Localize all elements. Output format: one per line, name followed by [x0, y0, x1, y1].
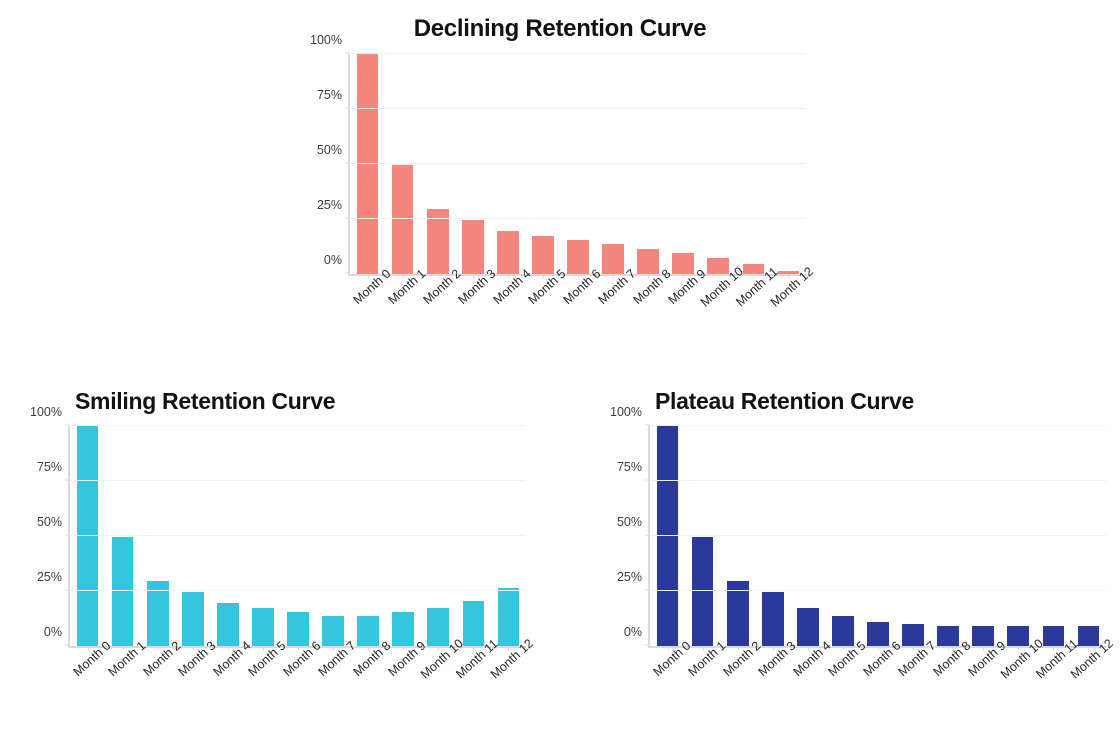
y-axis-tick-mark [345, 218, 350, 219]
bar[interactable] [1043, 626, 1065, 646]
bar[interactable] [182, 592, 204, 646]
bar-slot: Month 6 [280, 426, 315, 646]
x-axis-tick-mark [808, 646, 809, 650]
x-axis-tick-mark [403, 274, 404, 278]
bar-slot: Month 9 [966, 426, 1001, 646]
bar-slot: Month 12 [771, 54, 806, 274]
y-axis-tick-label: 75% [617, 460, 642, 474]
bar-slot: Month 5 [825, 426, 860, 646]
plot-wrap-smiling: Month 0Month 1Month 2Month 3Month 4Month… [20, 426, 540, 648]
bar-slot: Month 2 [140, 426, 175, 646]
y-axis-tick-mark [645, 425, 650, 426]
bar-slot: Month 4 [490, 54, 525, 274]
x-axis-tick-mark [473, 646, 474, 650]
chart-panel-smiling: Smiling Retention Curve Month 0Month 1Mo… [20, 386, 540, 716]
bar-slot: Month 4 [790, 426, 825, 646]
x-axis-tick-mark [578, 274, 579, 278]
bar[interactable] [937, 626, 959, 646]
bar[interactable] [392, 612, 414, 646]
bar-slot: Month 1 [385, 54, 420, 274]
y-axis-tick-label: 0% [44, 625, 62, 639]
x-axis-tick-mark [788, 274, 789, 278]
y-axis-tick-mark [65, 645, 70, 646]
x-axis-tick-mark [473, 274, 474, 278]
x-axis-tick-mark [1088, 646, 1089, 650]
plot-wrap-plateau: Month 0Month 1Month 2Month 3Month 4Month… [600, 426, 1120, 648]
y-axis-tick-label: 25% [317, 198, 342, 212]
plot-area-smiling: Month 0Month 1Month 2Month 3Month 4Month… [68, 426, 526, 648]
bar[interactable] [357, 616, 379, 646]
x-axis-tick-mark [403, 646, 404, 650]
bar-slot: Month 0 [650, 426, 685, 646]
bar[interactable] [217, 603, 239, 646]
x-axis-tick-mark [913, 646, 914, 650]
x-axis-tick-mark [88, 646, 89, 650]
x-axis-tick-mark [1053, 646, 1054, 650]
bar-slot: Month 9 [666, 54, 701, 274]
gridline [70, 425, 526, 426]
gridline [70, 535, 526, 536]
x-axis-tick-mark [508, 646, 509, 650]
bar[interactable] [602, 244, 624, 274]
bar-slot: Month 10 [1001, 426, 1036, 646]
y-axis-tick-label: 25% [37, 570, 62, 584]
plot-area-plateau: Month 0Month 1Month 2Month 3Month 4Month… [648, 426, 1106, 648]
x-axis-tick-mark [753, 274, 754, 278]
y-axis-tick-mark [345, 163, 350, 164]
bar[interactable] [672, 253, 694, 274]
x-axis-tick-mark [438, 646, 439, 650]
bar-slot: Month 2 [420, 54, 455, 274]
x-axis-tick-mark [773, 646, 774, 650]
x-axis-tick-mark [878, 646, 879, 650]
bar-slot: Month 1 [685, 426, 720, 646]
x-axis-tick-mark [613, 274, 614, 278]
bar-series-declining: Month 0Month 1Month 2Month 3Month 4Month… [350, 54, 806, 274]
bar-slot: Month 6 [860, 426, 895, 646]
x-axis-tick-mark [718, 274, 719, 278]
bar-slot: Month 4 [210, 426, 245, 646]
bar[interactable] [462, 220, 484, 274]
y-axis-tick-label: 75% [37, 460, 62, 474]
bar[interactable] [972, 626, 994, 646]
y-axis-tick-label: 100% [310, 33, 342, 47]
gridline [650, 480, 1106, 481]
bar-slot: Month 7 [896, 426, 931, 646]
chart-title-plateau: Plateau Retention Curve [600, 386, 1120, 416]
bar-slot: Month 10 [701, 54, 736, 274]
bar[interactable] [567, 240, 589, 274]
y-axis-tick-mark [65, 480, 70, 481]
bar-slot: Month 6 [560, 54, 595, 274]
bar[interactable] [77, 426, 99, 646]
chart-title-declining: Declining Retention Curve [300, 14, 820, 44]
x-axis-tick-mark [543, 274, 544, 278]
bar[interactable] [1007, 626, 1029, 646]
bar-slot: Month 7 [316, 426, 351, 646]
chart-panel-declining: Declining Retention Curve Month 0Month 1… [300, 14, 820, 364]
bar-slot: Month 3 [455, 54, 490, 274]
bar[interactable] [252, 608, 274, 647]
x-axis-tick-mark [668, 646, 669, 650]
x-axis-tick-mark [738, 646, 739, 650]
x-axis-tick-mark [368, 274, 369, 278]
gridline [350, 218, 806, 219]
y-axis-tick-mark [345, 273, 350, 274]
plot-area-declining: Month 0Month 1Month 2Month 3Month 4Month… [348, 54, 806, 276]
y-axis-tick-mark [65, 590, 70, 591]
bar[interactable] [832, 616, 854, 646]
x-axis-tick-mark [508, 274, 509, 278]
y-axis-tick-mark [645, 590, 650, 591]
bar[interactable] [1078, 626, 1100, 646]
x-axis-tick-mark [648, 274, 649, 278]
y-axis-tick-label: 50% [617, 515, 642, 529]
x-axis-tick-mark [298, 646, 299, 650]
y-axis-tick-label: 100% [30, 405, 62, 419]
gridline [350, 53, 806, 54]
y-axis-tick-mark [645, 645, 650, 646]
bar-slot: Month 5 [245, 426, 280, 646]
gridline [70, 480, 526, 481]
x-axis-tick-mark [948, 646, 949, 650]
y-axis-tick-label: 0% [324, 253, 342, 267]
x-axis-tick-mark [123, 646, 124, 650]
y-axis-tick-mark [345, 53, 350, 54]
bar-slot: Month 11 [736, 54, 771, 274]
bar-slot: Month 5 [525, 54, 560, 274]
bar-slot: Month 11 [456, 426, 491, 646]
x-axis-tick-mark [263, 646, 264, 650]
y-axis-tick-label: 25% [617, 570, 642, 584]
gridline [350, 163, 806, 164]
bar[interactable] [867, 622, 889, 646]
bar-series-smiling: Month 0Month 1Month 2Month 3Month 4Month… [70, 426, 526, 646]
bar-slot: Month 8 [631, 54, 666, 274]
bar[interactable] [707, 258, 729, 275]
bar-slot: Month 7 [596, 54, 631, 274]
x-axis-tick-mark [983, 646, 984, 650]
gridline [650, 590, 1106, 591]
bar[interactable] [392, 165, 414, 274]
bar[interactable] [797, 608, 819, 647]
bar-slot: Month 8 [931, 426, 966, 646]
gridline [650, 535, 1106, 536]
y-axis-tick-label: 0% [624, 625, 642, 639]
x-axis-tick-mark [703, 646, 704, 650]
bar[interactable] [498, 588, 520, 646]
x-axis-tick-mark [843, 646, 844, 650]
x-axis-tick-mark [333, 646, 334, 650]
gridline [650, 425, 1106, 426]
chart-panel-plateau: Plateau Retention Curve Month 0Month 1Mo… [600, 386, 1120, 716]
y-axis-tick-mark [65, 535, 70, 536]
plot-wrap-declining: Month 0Month 1Month 2Month 3Month 4Month… [300, 54, 820, 276]
gridline [70, 590, 526, 591]
bar[interactable] [532, 236, 554, 275]
bar-slot: Month 0 [350, 54, 385, 274]
bar-slot: Month 3 [755, 426, 790, 646]
x-axis-tick-mark [438, 274, 439, 278]
bar[interactable] [357, 54, 379, 274]
y-axis-tick-mark [345, 108, 350, 109]
bar[interactable] [112, 537, 134, 646]
bar-slot: Month 10 [421, 426, 456, 646]
y-axis-tick-mark [65, 425, 70, 426]
bar[interactable] [692, 537, 714, 646]
bar-slot: Month 1 [105, 426, 140, 646]
bar-series-plateau: Month 0Month 1Month 2Month 3Month 4Month… [650, 426, 1106, 646]
bar[interactable] [497, 231, 519, 274]
y-axis-tick-mark [645, 480, 650, 481]
y-axis-tick-mark [645, 535, 650, 536]
y-axis-tick-label: 50% [317, 143, 342, 157]
bar[interactable] [427, 608, 449, 647]
bar-slot: Month 12 [1071, 426, 1106, 646]
x-axis-tick-mark [158, 646, 159, 650]
x-axis-tick-mark [368, 646, 369, 650]
bar-slot: Month 11 [1036, 426, 1071, 646]
y-axis-tick-label: 50% [37, 515, 62, 529]
bar-slot: Month 0 [70, 426, 105, 646]
bar[interactable] [463, 601, 485, 646]
y-axis-tick-label: 100% [610, 405, 642, 419]
bar-slot: Month 3 [175, 426, 210, 646]
bar[interactable] [762, 592, 784, 646]
x-axis-tick-mark [193, 646, 194, 650]
bar[interactable] [637, 249, 659, 274]
bar[interactable] [322, 616, 344, 646]
chart-title-smiling: Smiling Retention Curve [20, 386, 540, 416]
bar[interactable] [287, 612, 309, 646]
bar-slot: Month 8 [351, 426, 386, 646]
y-axis-tick-label: 75% [317, 88, 342, 102]
bar-slot: Month 12 [491, 426, 526, 646]
bar[interactable] [902, 624, 924, 646]
x-axis-tick-mark [1018, 646, 1019, 650]
x-axis-tick-mark [683, 274, 684, 278]
bar-slot: Month 2 [720, 426, 755, 646]
bar-slot: Month 9 [386, 426, 421, 646]
gridline [350, 108, 806, 109]
bar[interactable] [657, 426, 679, 646]
x-axis-tick-mark [228, 646, 229, 650]
